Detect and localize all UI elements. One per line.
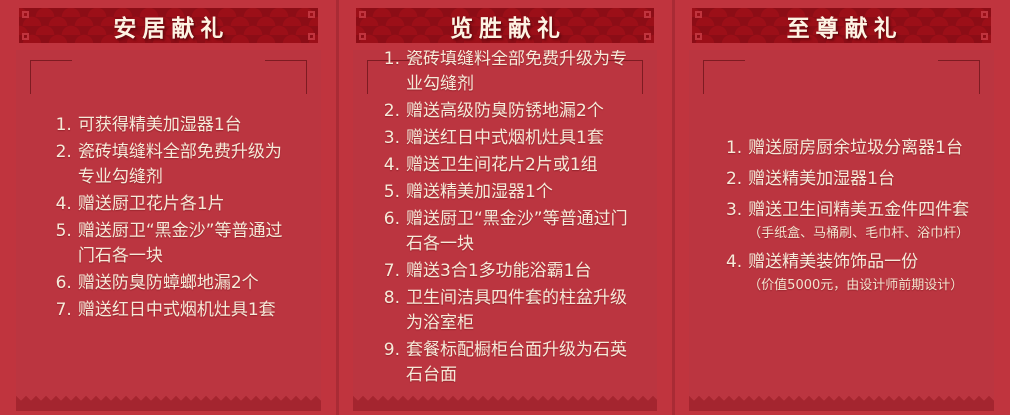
list-item-number: 9. (374, 338, 400, 363)
list-item-number: 7. (46, 298, 72, 323)
list-item: 4. 赠送卫生间花片2片或1组 (406, 153, 638, 178)
list-item: 9. 套餐标配橱柜台面升级为石英石台面 (406, 338, 638, 388)
panel-3-list-wrap: 1. 赠送厨房厨余垃圾分离器1台 2. 赠送精美加湿器1台 3. 赠送卫生间精美… (689, 50, 994, 387)
list-item-number: 4. (46, 192, 72, 217)
panel-3-bottom-band (689, 401, 994, 411)
list-item-text: 赠送卫生间精美五金件四件套 (748, 198, 969, 223)
list-item-text: 赠送高级防臭防锈地漏2个 (406, 99, 638, 124)
panel-1-gift-list: 1. 可获得精美加湿器1台 2. 瓷砖填缝料全部免费升级为专业勾缝剂 4. 赠送… (44, 113, 293, 325)
panel-2-banner-inner: 览胜献礼 (356, 8, 655, 43)
list-item-number: 4. (716, 250, 742, 275)
panel-1-list-wrap: 1. 可获得精美加湿器1台 2. 瓷砖填缝料全部免费升级为专业勾缝剂 4. 赠送… (16, 50, 321, 387)
panel-3-banner-inner: 至尊献礼 (692, 8, 991, 43)
list-item: 3. 赠送红日中式烟机灶具1套 (406, 126, 638, 151)
list-item-number: 2. (716, 167, 742, 192)
list-item: 1. 赠送厨房厨余垃圾分离器1台 (748, 136, 969, 161)
list-item-number: 2. (46, 140, 72, 165)
list-item: 8. 卫生间洁具四件套的柱盆升级为浴室柜 (406, 286, 638, 336)
list-item-number: 5. (46, 219, 72, 244)
list-item: 6. 赠送防臭防蟑螂地漏2个 (78, 271, 293, 296)
list-item: 3. 赠送卫生间精美五金件四件套 （手纸盒、马桶刷、毛巾杆、浴巾杆） (748, 198, 969, 244)
panel-2-banner: 览胜献礼 (353, 5, 658, 46)
gift-panel-3: 至尊献礼 1. 赠送厨房厨余垃圾分离器1台 2. 赠送精美加湿器1台 (673, 0, 1010, 415)
panel-1-bottom-band (16, 401, 321, 411)
list-item: 5. 赠送厨卫“黑金沙”等普通过门石各一块 (78, 219, 293, 269)
panel-3-gift-list: 1. 赠送厨房厨余垃圾分离器1台 2. 赠送精美加湿器1台 3. 赠送卫生间精美… (714, 136, 969, 302)
list-item: 4. 赠送厨卫花片各1片 (78, 192, 293, 217)
list-item-subtext: （价值5000元，由设计师前期设计） (748, 275, 969, 296)
list-item-number: 1. (374, 50, 400, 72)
list-item-subtext: （手纸盒、马桶刷、毛巾杆、浴巾杆） (748, 223, 969, 244)
list-item: 1. 可获得精美加湿器1台 (78, 113, 293, 138)
panel-2-bottom-band (353, 401, 658, 411)
list-item-text: 赠送厨房厨余垃圾分离器1台 (748, 136, 969, 161)
list-item-number: 3. (716, 198, 742, 223)
gift-panels-container: 安居献礼 1. 可获得精美加湿器1台 2. 瓷砖填缝料全部免费升级为专业勾缝剂 (0, 0, 1010, 415)
gift-panel-2: 览胜献礼 1. 瓷砖填缝料全部免费升级为专业勾缝剂 2. 赠送高级防臭防锈地漏2… (337, 0, 674, 415)
list-item-number: 6. (46, 271, 72, 296)
panel-1-card: 1. 可获得精美加湿器1台 2. 瓷砖填缝料全部免费升级为专业勾缝剂 4. 赠送… (16, 50, 321, 411)
list-item: 7. 赠送红日中式烟机灶具1套 (78, 298, 293, 323)
list-item-text: 套餐标配橱柜台面升级为石英石台面 (406, 338, 638, 388)
list-item-text: 赠送厨卫“黑金沙”等普通过门石各一块 (78, 219, 293, 269)
list-item-text: 瓷砖填缝料全部免费升级为专业勾缝剂 (78, 140, 293, 190)
list-item-text: 赠送精美装饰饰品一份 (748, 250, 969, 275)
panel-1-sawtooth-decoration (16, 390, 321, 401)
list-item-text: 瓷砖填缝料全部免费升级为专业勾缝剂 (406, 50, 638, 97)
list-item-text: 赠送红日中式烟机灶具1套 (78, 298, 293, 323)
panel-3-banner: 至尊献礼 (689, 5, 994, 46)
list-item-text: 赠送精美加湿器1个 (406, 180, 638, 205)
list-item-number: 7. (374, 259, 400, 284)
list-item-text: 赠送厨卫花片各1片 (78, 192, 293, 217)
list-item-text: 可获得精美加湿器1台 (78, 113, 293, 138)
panel-3-title: 至尊献礼 (781, 9, 903, 43)
panel-2-sawtooth-decoration (353, 390, 658, 401)
list-item-number: 8. (374, 286, 400, 311)
list-item: 2. 赠送精美加湿器1台 (748, 167, 969, 192)
list-item-number: 4. (374, 153, 400, 178)
gift-panel-1: 安居献礼 1. 可获得精美加湿器1台 2. 瓷砖填缝料全部免费升级为专业勾缝剂 (0, 0, 337, 415)
panel-1-banner: 安居献礼 (16, 5, 321, 46)
panel-3-card: 1. 赠送厨房厨余垃圾分离器1台 2. 赠送精美加湿器1台 3. 赠送卫生间精美… (689, 50, 994, 411)
promo-banner-page: 安居献礼 1. 可获得精美加湿器1台 2. 瓷砖填缝料全部免费升级为专业勾缝剂 (0, 0, 1010, 415)
list-item-text: 赠送卫生间花片2片或1组 (406, 153, 638, 178)
list-item-number: 3. (374, 126, 400, 151)
panel-2-card: 1. 瓷砖填缝料全部免费升级为专业勾缝剂 2. 赠送高级防臭防锈地漏2个 3. … (353, 50, 658, 411)
panel-1-title: 安居献礼 (107, 9, 229, 43)
list-item-text: 赠送精美加湿器1台 (748, 167, 969, 192)
list-item: 2. 瓷砖填缝料全部免费升级为专业勾缝剂 (78, 140, 293, 190)
list-item-text: 赠送防臭防蟑螂地漏2个 (78, 271, 293, 296)
list-item: 2. 赠送高级防臭防锈地漏2个 (406, 99, 638, 124)
list-item-number: 1. (46, 113, 72, 138)
list-item-text: 赠送红日中式烟机灶具1套 (406, 126, 638, 151)
panel-2-gift-list: 1. 瓷砖填缝料全部免费升级为专业勾缝剂 2. 赠送高级防臭防锈地漏2个 3. … (372, 50, 638, 390)
list-item: 5. 赠送精美加湿器1个 (406, 180, 638, 205)
list-item-text: 卫生间洁具四件套的柱盆升级为浴室柜 (406, 286, 638, 336)
list-item-number: 5. (374, 180, 400, 205)
panel-3-sawtooth-decoration (689, 390, 994, 401)
list-item: 7. 赠送3合1多功能浴霸1台 (406, 259, 638, 284)
list-item: 1. 瓷砖填缝料全部免费升级为专业勾缝剂 (406, 50, 638, 97)
list-item-text: 赠送厨卫“黑金沙”等普通过门石各一块 (406, 207, 638, 257)
list-item: 6. 赠送厨卫“黑金沙”等普通过门石各一块 (406, 207, 638, 257)
list-item-number: 1. (716, 136, 742, 161)
list-item-text: 赠送3合1多功能浴霸1台 (406, 259, 638, 284)
list-item-number: 6. (374, 207, 400, 232)
list-item-number: 2. (374, 99, 400, 124)
list-item: 4. 赠送精美装饰饰品一份 （价值5000元，由设计师前期设计） (748, 250, 969, 296)
panel-2-title: 览胜献礼 (444, 9, 566, 43)
panel-2-list-wrap: 1. 瓷砖填缝料全部免费升级为专业勾缝剂 2. 赠送高级防臭防锈地漏2个 3. … (353, 50, 658, 387)
panel-1-banner-inner: 安居献礼 (19, 8, 318, 43)
